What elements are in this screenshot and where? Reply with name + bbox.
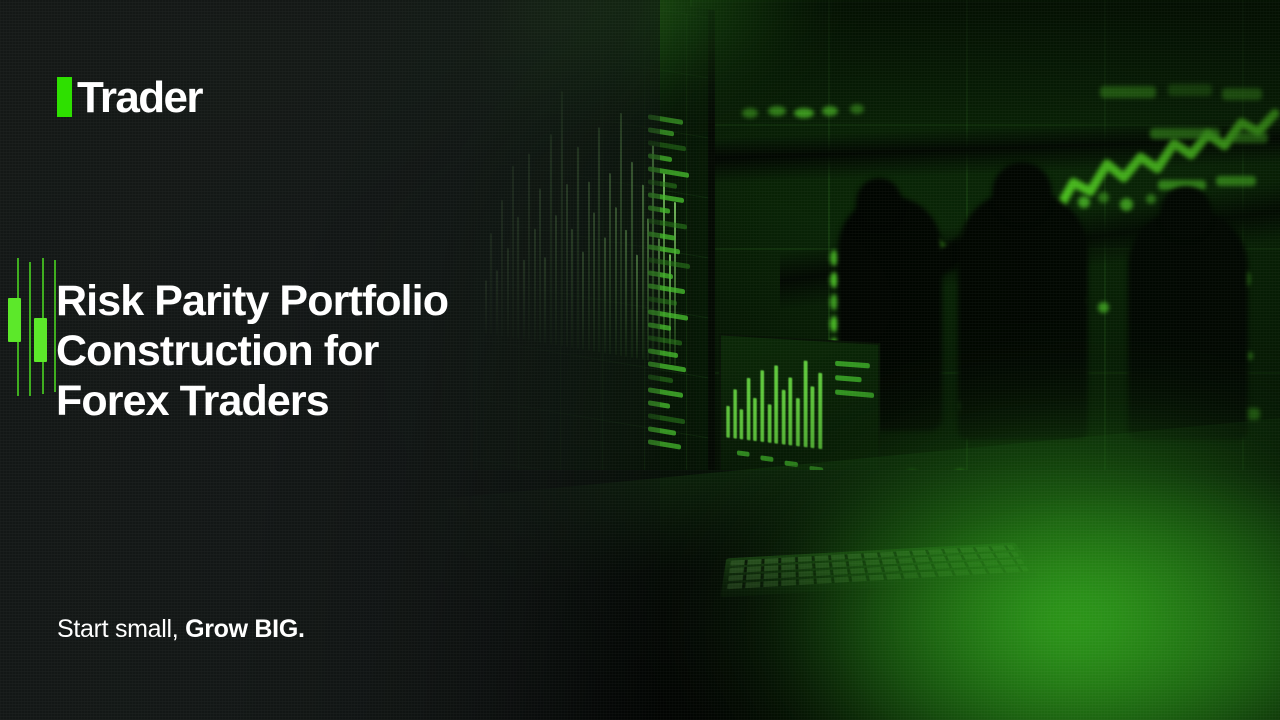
candle-body: [34, 318, 47, 362]
headline-line-1: Risk Parity Portfolio: [56, 276, 616, 326]
content-layer: Trader Risk Parity Portfolio Constructio…: [0, 0, 1280, 720]
page-title: Risk Parity Portfolio Construction for F…: [56, 276, 616, 426]
brand-logo[interactable]: Trader: [57, 62, 202, 118]
tagline-bold: Grow BIG.: [185, 615, 305, 643]
brand-tagline: Start small, Grow BIG.: [57, 615, 305, 644]
tagline-regular: Start small,: [57, 615, 178, 643]
headline-line-3: Forex Traders: [56, 376, 616, 426]
candle-wick: [29, 262, 31, 396]
candle-body: [8, 298, 21, 342]
logo-wordmark: Trader: [77, 78, 202, 118]
logo-i-bar-icon: [57, 77, 72, 117]
banner-canvas: Trader Risk Parity Portfolio Constructio…: [0, 0, 1280, 720]
headline-line-2: Construction for: [56, 326, 616, 376]
